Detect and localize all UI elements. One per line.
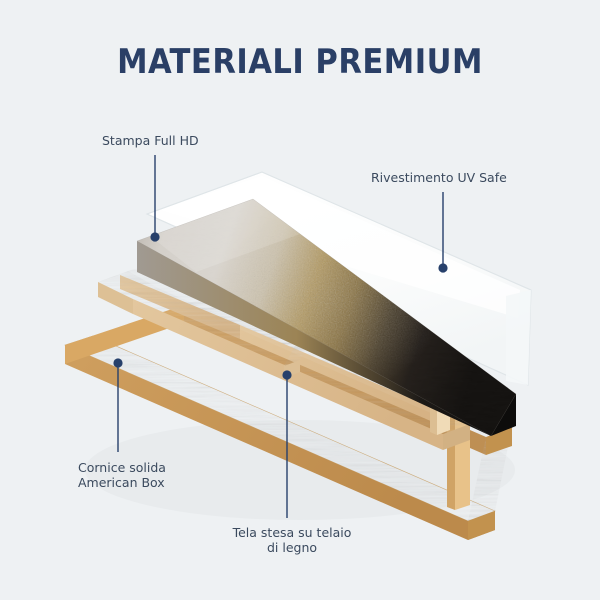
leader-dot-frame (113, 358, 122, 367)
leader-dot-print (150, 232, 159, 241)
illustration-stage: MATERIALI PREMIUM (0, 0, 600, 600)
exploded-view-illustration (0, 0, 600, 600)
leader-dot-uv (438, 263, 447, 272)
page-title: MATERIALI PREMIUM (0, 42, 600, 82)
leader-dot-canvas (282, 370, 291, 379)
callout-label-print: Stampa Full HD (102, 133, 199, 148)
callout-label-frame: Cornice solida American Box (78, 460, 166, 490)
callout-label-uv: Rivestimento UV Safe (371, 170, 507, 185)
callout-label-canvas: Tela stesa su telaio di legno (222, 525, 362, 555)
